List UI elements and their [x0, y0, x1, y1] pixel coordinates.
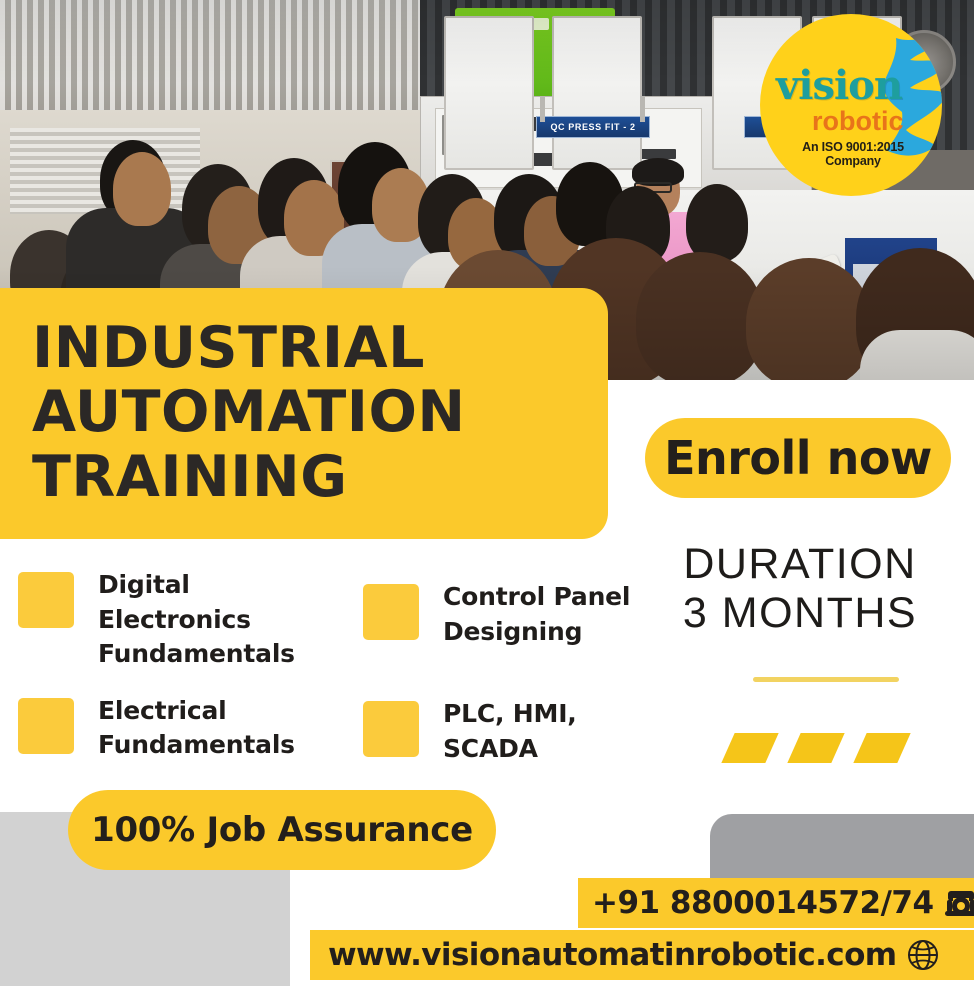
job-assurance-badge: 100% Job Assurance	[68, 790, 496, 870]
feature-item: Digital Electronics Fundamentals	[18, 568, 338, 672]
machine-sign: QC PRESS FIT - 2	[536, 116, 650, 138]
gray-decor-block-right	[710, 814, 974, 884]
duration-block: DURATION 3 MONTHS	[640, 540, 960, 637]
stripe-icon	[721, 733, 778, 763]
title-line-1: INDUSTRIAL	[32, 316, 608, 380]
phone-contact-bar[interactable]: +91 8800014572/74	[578, 878, 974, 928]
website-contact-bar[interactable]: www.visionautomatinrobotic.com	[310, 930, 974, 980]
page-title: INDUSTRIAL AUTOMATION TRAINING	[0, 288, 608, 539]
website-url: www.visionautomatinrobotic.com	[328, 937, 896, 973]
enroll-now-button[interactable]: Enroll now	[645, 418, 951, 498]
photo-sign-stand	[540, 96, 545, 122]
job-assurance-label: 100% Job Assurance	[91, 810, 473, 850]
title-line-2: AUTOMATION	[32, 380, 608, 444]
company-logo: vision robotic An ISO 9001:2015 Company	[760, 14, 942, 196]
student-body	[860, 330, 974, 380]
bullet-square-icon	[18, 572, 74, 628]
telephone-icon	[944, 888, 974, 918]
feature-item: PLC, HMI, SCADA	[363, 697, 663, 766]
features-column-right: Control Panel Designing PLC, HMI, SCADA	[363, 580, 663, 814]
photo-cabinet-panel	[444, 16, 534, 170]
feature-label: PLC, HMI, SCADA	[443, 697, 663, 766]
feature-label: Digital Electronics Fundamentals	[98, 568, 338, 672]
title-line-3: TRAINING	[32, 445, 608, 509]
duration-label: DURATION	[640, 540, 960, 589]
stripe-icon	[787, 733, 844, 763]
logo-certification: An ISO 9001:2015 Company	[774, 140, 932, 168]
duration-underline	[753, 677, 899, 682]
photo-cabinet-panel	[552, 16, 642, 170]
photo-sign-stand	[640, 96, 645, 122]
feature-item: Electrical Fundamentals	[18, 694, 338, 763]
globe-icon	[906, 938, 940, 972]
logo-name-secondary: robotic	[812, 106, 904, 137]
features-column-left: Digital Electronics Fundamentals Electri…	[18, 568, 338, 785]
student-face	[113, 152, 171, 226]
poster: QC PRESS FIT - 2	[0, 0, 974, 986]
bullet-square-icon	[363, 584, 419, 640]
decorative-stripes	[728, 733, 904, 763]
phone-number: +91 8800014572/74	[592, 885, 934, 921]
duration-value: 3 MONTHS	[640, 589, 960, 638]
feature-label: Electrical Fundamentals	[98, 694, 338, 763]
bullet-square-icon	[363, 701, 419, 757]
feature-label: Control Panel Designing	[443, 580, 663, 649]
student-head	[746, 258, 872, 380]
student-head	[686, 184, 748, 262]
bullet-square-icon	[18, 698, 74, 754]
logo-name-primary: vision	[776, 62, 902, 109]
stripe-icon	[853, 733, 910, 763]
enroll-now-label: Enroll now	[664, 431, 932, 485]
feature-item: Control Panel Designing	[363, 580, 663, 649]
student-head	[636, 252, 764, 380]
